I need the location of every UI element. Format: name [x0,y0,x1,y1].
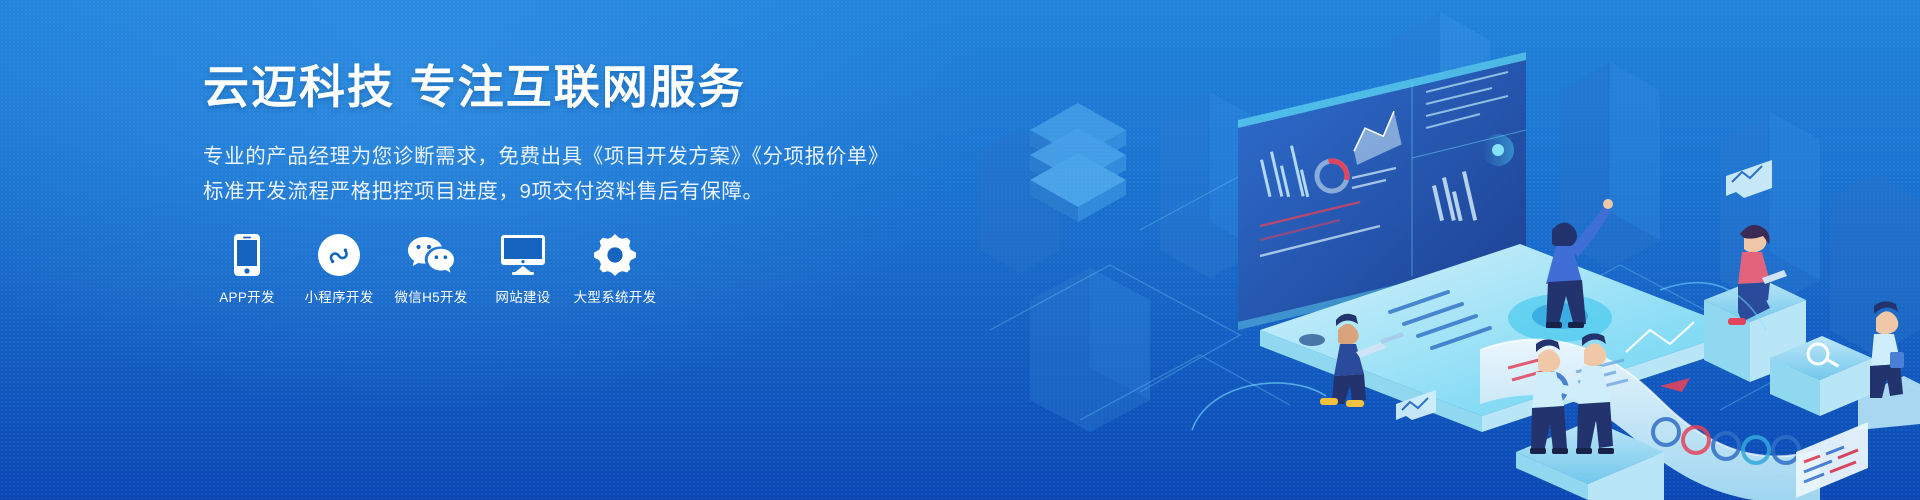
monitor-icon [501,232,545,278]
mobile-phone-icon [234,232,260,278]
subtitle-line-2: 标准开发流程严格把控项目进度，9项交付资料售后有保障。 [203,174,903,210]
code-list-card [1796,422,1868,498]
service-label: 微信H5开发 [394,291,467,305]
page-title: 云迈科技 专注互联网服务 [203,62,903,113]
service-label: 网站建设 [495,291,550,305]
service-item-app[interactable]: APP开发 [203,232,291,305]
service-label: 小程序开发 [305,291,374,305]
service-item-wechat-h5[interactable]: 微信H5开发 [387,232,475,305]
wechat-icon [406,232,456,278]
service-item-large-system[interactable]: 大型系统开发 [571,232,659,305]
copy-block: 云迈科技 专注互联网服务 专业的产品经理为您诊断需求，免费出具《项目开发方案》《… [203,62,903,210]
subtitle: 专业的产品经理为您诊断需求，免费出具《项目开发方案》《分项报价单》 标准开发流程… [203,139,903,211]
subtitle-line-1: 专业的产品经理为您诊断需求，免费出具《项目开发方案》《分项报价单》 [203,139,903,175]
hero-banner: 云迈科技 专注互联网服务 专业的产品经理为您诊断需求，免费出具《项目开发方案》《… [0,0,1920,500]
illustration [960,0,1920,500]
service-label: 大型系统开发 [574,291,657,305]
service-item-miniprogram[interactable]: 小程序开发 [295,232,383,305]
gear-icon [594,232,636,278]
service-item-website[interactable]: 网站建设 [479,232,567,305]
mini-program-icon [318,232,360,278]
service-list: APP开发 小程序开发 微信H5开发 网站建设 [203,232,663,305]
service-label: APP开发 [219,291,275,305]
